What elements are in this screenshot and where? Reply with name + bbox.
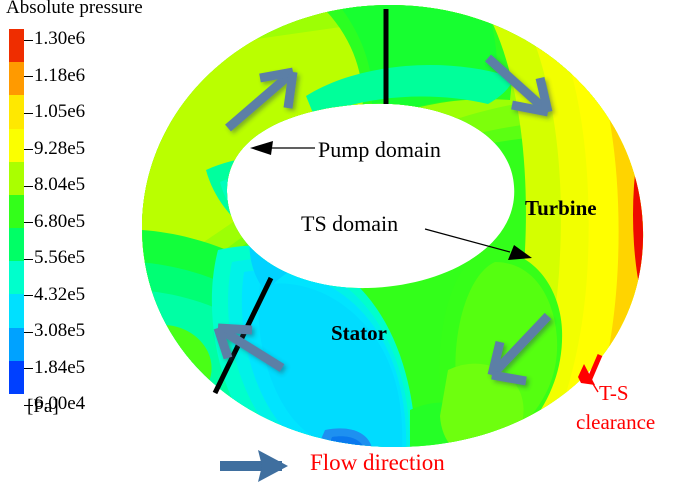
colorbar-tick-dash bbox=[24, 186, 33, 187]
flow-direction-label: Flow direction bbox=[310, 450, 445, 476]
ts-clearance-label-line1: T-S bbox=[599, 381, 629, 406]
colorbar-band-2 bbox=[9, 95, 24, 128]
colorbar-tick-label: 1.05e6 bbox=[34, 101, 85, 123]
colorbar-tick-label: 4.32e5 bbox=[34, 284, 85, 306]
colorbar-tick-label: 9.28e5 bbox=[34, 138, 85, 160]
turbine-region-label: Turbine bbox=[525, 196, 597, 221]
ts-clearance-label-line2: clearance bbox=[576, 410, 655, 435]
colorbar-tick-dash bbox=[24, 149, 33, 150]
pump-domain-label: Pump domain bbox=[318, 137, 441, 163]
colorbar-band-9 bbox=[9, 328, 24, 361]
colorbar-gradient-strip bbox=[9, 29, 24, 394]
colorbar-tick-dash bbox=[24, 259, 33, 260]
colorbar-tick-label: 3.08e5 bbox=[34, 320, 85, 342]
contour-band-turb-red bbox=[638, 0, 685, 470]
colorbar-band-4 bbox=[9, 162, 24, 195]
colorbar-band-7 bbox=[9, 261, 24, 294]
colorbar-tick-label: 1.84e5 bbox=[34, 357, 85, 379]
ts-domain-label: TS domain bbox=[301, 211, 398, 237]
contour-plot: Pump domain TS domain Turbine Stator T-S… bbox=[110, 0, 685, 496]
colorbar-tick-dash bbox=[24, 113, 33, 114]
colorbar-tick-dash bbox=[24, 40, 33, 41]
colorbar-unit-label: [Pa] bbox=[27, 396, 59, 418]
colorbar-tick-dash bbox=[24, 76, 33, 77]
colorbar-tick-label: 6.80e5 bbox=[34, 211, 85, 233]
colorbar-tick-dash bbox=[24, 222, 33, 223]
contour-band-turb-red2 bbox=[655, 0, 685, 440]
colorbar-tick-dash bbox=[24, 295, 33, 296]
colorbar-band-6 bbox=[9, 228, 24, 261]
colorbar-tick-dash bbox=[24, 368, 33, 369]
figure-root: Absolute pressure 1.30e61.18e61.05e69.28… bbox=[0, 0, 685, 496]
colorbar-band-5 bbox=[9, 195, 24, 228]
stator-region-label: Stator bbox=[331, 321, 387, 346]
colorbar-tick-label: 1.30e6 bbox=[34, 28, 85, 50]
colorbar-tick-label: 5.56e5 bbox=[34, 247, 85, 269]
pump-domain-arrowhead bbox=[250, 141, 273, 155]
colorbar-tick-label: 8.04e5 bbox=[34, 174, 85, 196]
colorbar-band-3 bbox=[9, 129, 24, 162]
colorbar-band-0 bbox=[9, 29, 24, 62]
colorbar-band-8 bbox=[9, 294, 24, 327]
contour-band-turb-peak bbox=[633, 65, 685, 365]
colorbar-tick-dash bbox=[24, 332, 33, 333]
colorbar-band-10 bbox=[9, 361, 24, 394]
colorbar-band-1 bbox=[9, 62, 24, 95]
colorbar-tick-label: 1.18e6 bbox=[34, 65, 85, 87]
flow-direction-legend-arrow bbox=[220, 450, 288, 482]
